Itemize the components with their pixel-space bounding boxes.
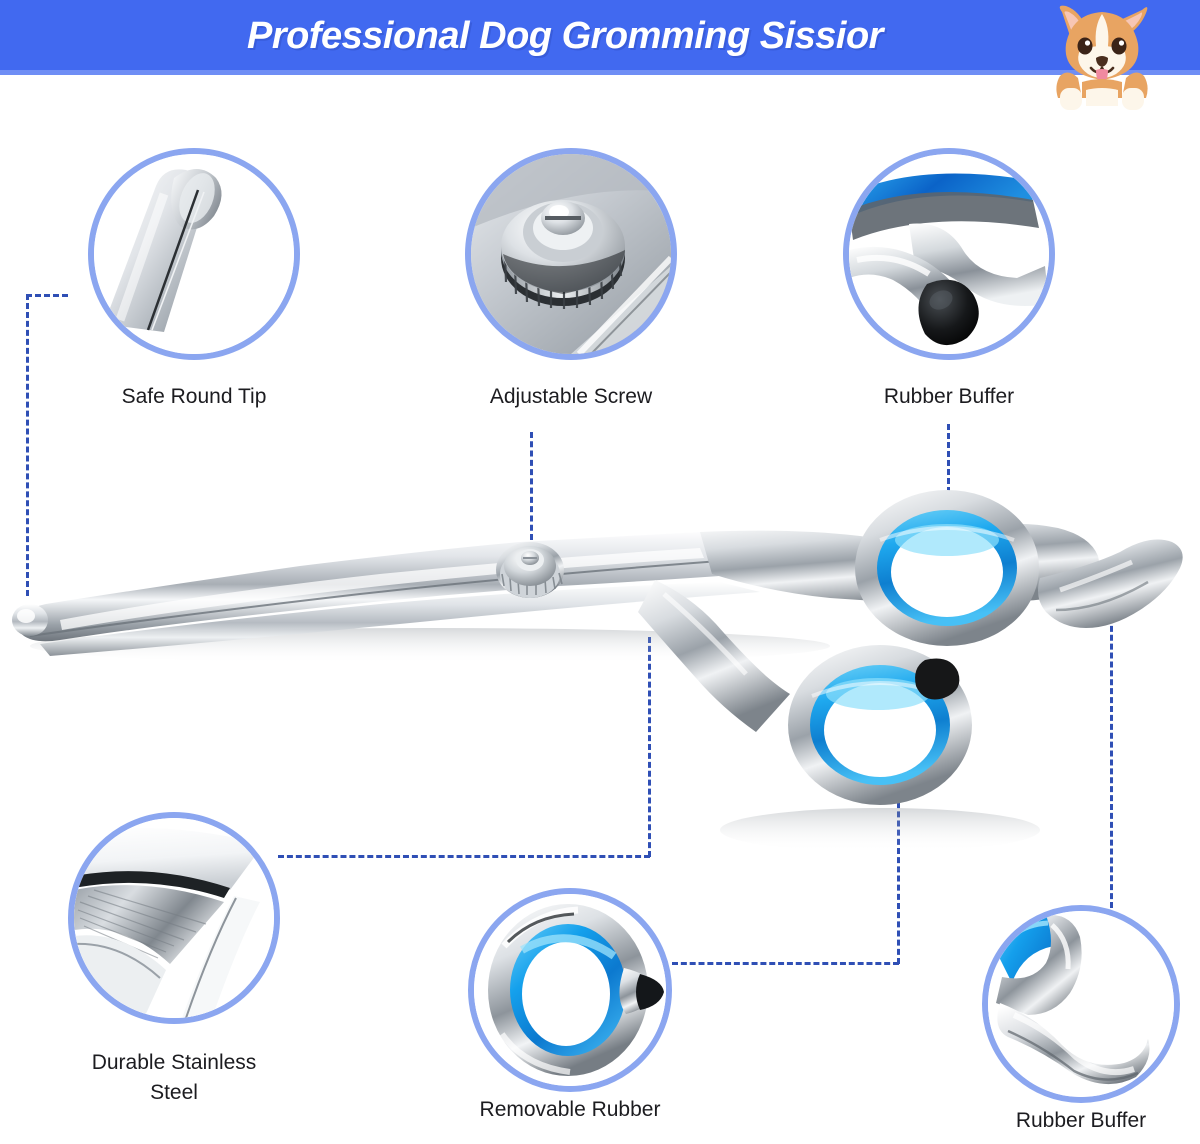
durable-stainless-steel-icon (68, 812, 280, 1024)
removable-rubber-label: Removable Rubber (440, 1095, 700, 1125)
adjustable-screw-icon (465, 148, 677, 360)
rubber-buffer-top-icon (843, 148, 1055, 360)
page-title: Professional Dog Gromming Sissior (0, 0, 1200, 72)
header-banner: Professional Dog Gromming Sissior (0, 0, 1200, 72)
infographic-page: Professional Dog Gromming Sissior (0, 0, 1200, 1144)
rubber-buffer-bottom-icon (982, 905, 1180, 1103)
durable-stainless-steel-label: Durable Stainless Steel (44, 1048, 304, 1108)
rubber-buffer-bottom-label: Rubber Buffer (951, 1106, 1200, 1136)
safe-round-tip-label: Safe Round Tip (64, 382, 324, 412)
connector-safe-round-tip-horizontal (26, 294, 68, 297)
pivot-screw-graphic (496, 542, 564, 598)
adjustable-screw-label: Adjustable Screw (441, 382, 701, 412)
banner-bottom-edge (0, 70, 1200, 75)
safe-round-tip-icon (88, 148, 300, 360)
rubber-buffer-top-label: Rubber Buffer (819, 382, 1079, 412)
connector-removable-rubber-horizontal (672, 962, 899, 965)
corgi-dog-icon (1046, 2, 1158, 110)
removable-rubber-icon (468, 888, 672, 1092)
